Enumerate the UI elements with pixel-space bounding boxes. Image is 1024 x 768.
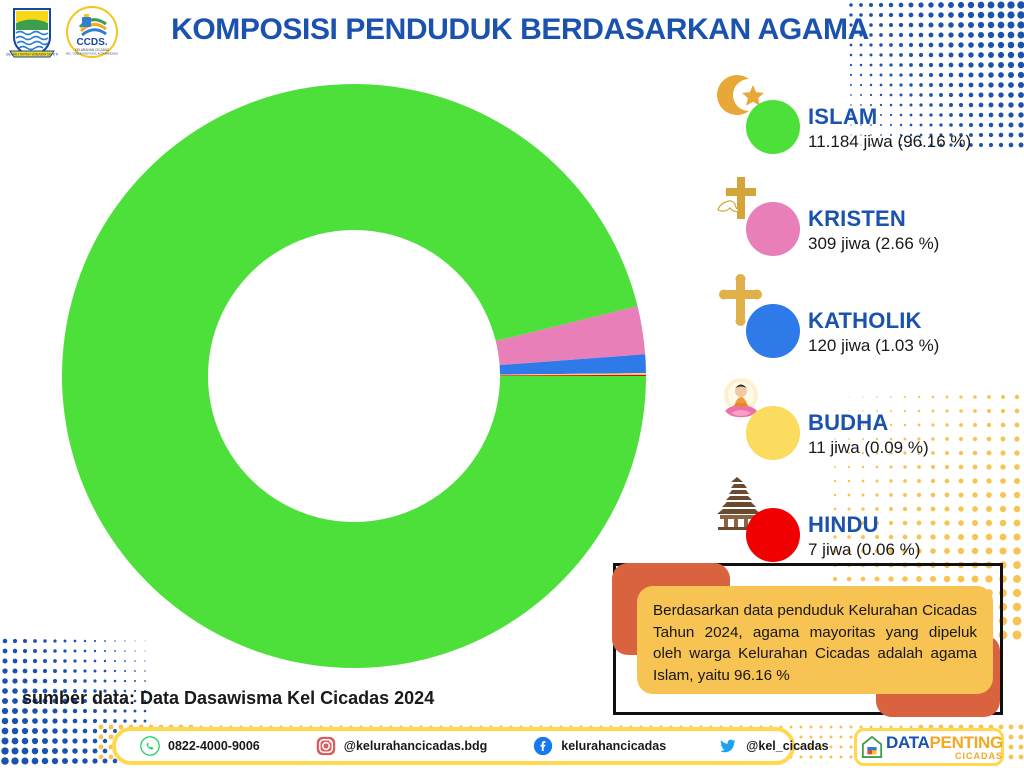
footer-contact-bar: 0822-4000-9006 @kelurahancicadas.bdg kel… — [112, 727, 795, 765]
legend-swatch-budha — [746, 406, 800, 460]
svg-text:GEMAH RIPAH WIBAWA MUKTI: GEMAH RIPAH WIBAWA MUKTI — [6, 53, 58, 57]
whatsapp-icon — [140, 736, 160, 756]
contact-instagram[interactable]: @kelurahancicadas.bdg — [316, 731, 488, 761]
brand-main-text: DATAPENTING — [886, 734, 1003, 751]
instagram-icon — [316, 736, 336, 756]
contact-facebook[interactable]: kelurahancicadas — [533, 731, 666, 761]
legend-swatch-hindu — [746, 508, 800, 562]
legend-value-kristen: 309 jiwa (2.66 %) — [808, 234, 939, 254]
twitter-icon — [718, 736, 738, 756]
legend-item-budha[interactable]: BUDHA 11 jiwa (0.09 %) — [706, 368, 1024, 470]
legend-item-hindu[interactable]: HINDU 7 jiwa (0.06 %) — [706, 470, 1024, 572]
contact-label-facebook: kelurahancicadas — [561, 739, 666, 753]
contact-label-twitter: @kel_cicadas — [746, 739, 828, 753]
infographic-canvas: GEMAH RIPAH WIBAWA MUKTI CCDS. KELURAHAN… — [0, 0, 1024, 768]
callout-text: Berdasarkan data penduduk Kelurahan Cica… — [653, 600, 977, 686]
legend-swatch-islam — [746, 100, 800, 154]
house-icon — [861, 735, 883, 759]
legend-label-islam: ISLAM — [808, 104, 877, 130]
svg-text:KEC. CIBEUNYING KIDUL KOTA BAN: KEC. CIBEUNYING KIDUL KOTA BANDUNG — [66, 52, 118, 56]
legend-item-kristen[interactable]: KRISTEN 309 jiwa (2.66 %) — [706, 164, 1024, 266]
legend-swatch-katholik — [746, 304, 800, 358]
page-title: KOMPOSISI PENDUDUK BERDASARKAN AGAMA — [160, 8, 880, 52]
legend-value-islam: 11.184 jiwa (96.16 %) — [808, 132, 971, 152]
donut-chart-svg — [58, 80, 650, 672]
svg-text:KELURAHAN CICADAS: KELURAHAN CICADAS — [75, 48, 110, 52]
chart-legend: ISLAM 11.184 jiwa (96.16 %) KRISTEN 309 … — [706, 62, 1024, 572]
brand-part2: PENTING — [930, 733, 1003, 752]
header-logos: GEMAH RIPAH WIBAWA MUKTI CCDS. KELURAHAN… — [6, 4, 134, 60]
facebook-icon — [533, 736, 553, 756]
svg-text:CCDS.: CCDS. — [76, 37, 107, 48]
callout-box: Berdasarkan data penduduk Kelurahan Cica… — [637, 586, 993, 694]
contact-whatsapp[interactable]: 0822-4000-9006 — [140, 731, 260, 761]
legend-label-kristen: KRISTEN — [808, 206, 906, 232]
contact-label-instagram: @kelurahancicadas.bdg — [344, 739, 488, 753]
brand-logo-data-penting[interactable]: DATAPENTING CICADAS — [854, 728, 1004, 766]
legend-item-islam[interactable]: ISLAM 11.184 jiwa (96.16 %) — [706, 62, 1024, 164]
logo-kota-bandung: GEMAH RIPAH WIBAWA MUKTI — [6, 5, 58, 59]
contact-twitter[interactable]: @kel_cicadas — [718, 731, 828, 761]
legend-swatch-kristen — [746, 202, 800, 256]
donut-chart — [58, 80, 650, 672]
legend-label-hindu: HINDU — [808, 512, 879, 538]
legend-label-budha: BUDHA — [808, 410, 888, 436]
legend-value-katholik: 120 jiwa (1.03 %) — [808, 336, 939, 356]
source-note: sumber data: Data Dasawisma Kel Cicadas … — [22, 688, 434, 709]
brand-sub-text: CICADAS — [886, 752, 1003, 761]
logo-ccds-kelurahan-cicadas: CCDS. KELURAHAN CICADAS KEC. CIBEUNYING … — [64, 5, 120, 59]
legend-value-hindu: 7 jiwa (0.06 %) — [808, 540, 920, 560]
brand-part1: DATA — [886, 733, 930, 752]
legend-item-katholik[interactable]: KATHOLIK 120 jiwa (1.03 %) — [706, 266, 1024, 368]
legend-label-katholik: KATHOLIK — [808, 308, 922, 334]
brand-text: DATAPENTING CICADAS — [886, 734, 1003, 761]
legend-value-budha: 11 jiwa (0.09 %) — [808, 438, 929, 458]
contact-label-whatsapp: 0822-4000-9006 — [168, 739, 260, 753]
